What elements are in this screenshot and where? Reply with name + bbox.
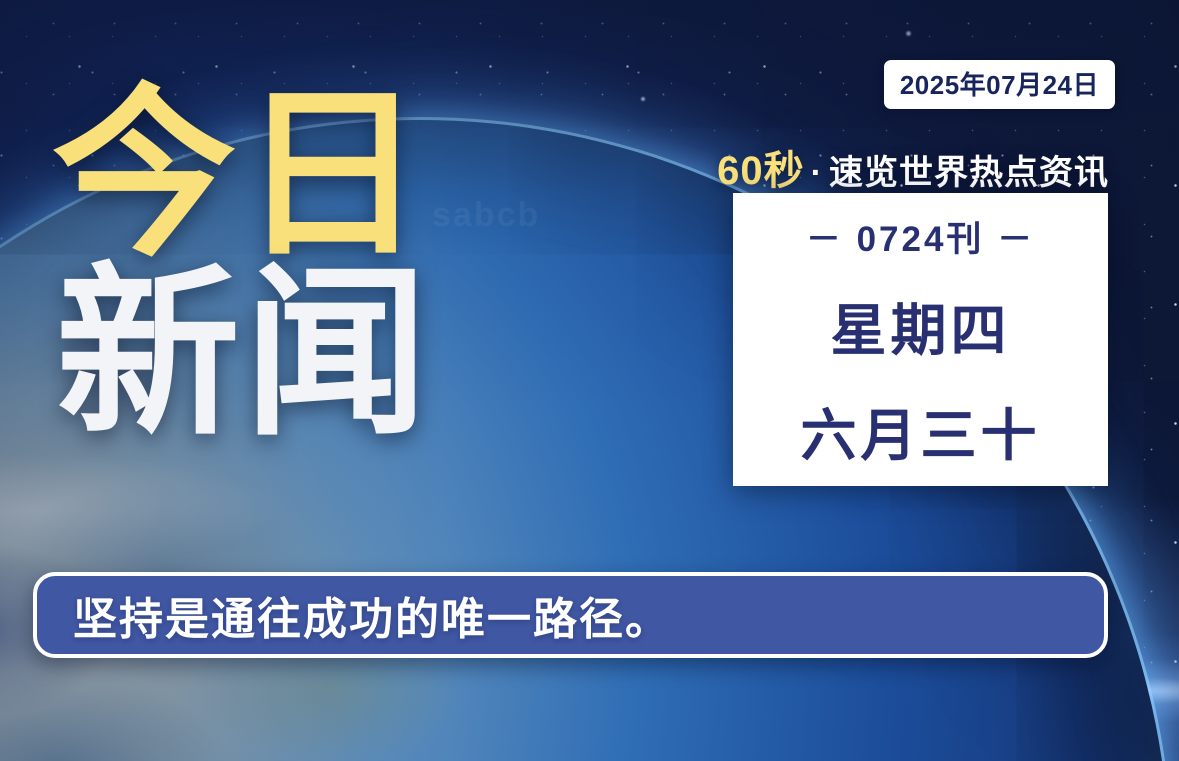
tagline-seconds: 60秒 [717, 149, 805, 193]
date-badge: 2025年07月24日 [884, 60, 1115, 109]
quote-text: 坚持是通往成功的唯一路径。 [37, 583, 671, 647]
headline-line-news: 新闻 [56, 265, 432, 442]
tagline-separator: · [805, 154, 829, 192]
day-card: － 0724刊 － 星期四 六月三十 [733, 193, 1108, 486]
lunar-date-label: 六月三十 [801, 391, 1041, 472]
news-poster: sabcb 今日 新闻 2025年07月24日 60秒·速览世界热点资讯 － 0… [0, 0, 1179, 761]
headline-line-today: 今日 [52, 86, 432, 263]
tagline-text: 速览世界热点资讯 [829, 154, 1109, 192]
issue-number: － 0724刊 － [806, 211, 1035, 262]
weekday-label: 星期四 [831, 286, 1011, 367]
quote-bar: 坚持是通往成功的唯一路径。 [33, 572, 1108, 658]
star-glow [640, 96, 646, 102]
page-title: 今日 新闻 [52, 86, 432, 441]
tagline: 60秒·速览世界热点资讯 [717, 138, 1109, 196]
star-glow [905, 30, 912, 37]
